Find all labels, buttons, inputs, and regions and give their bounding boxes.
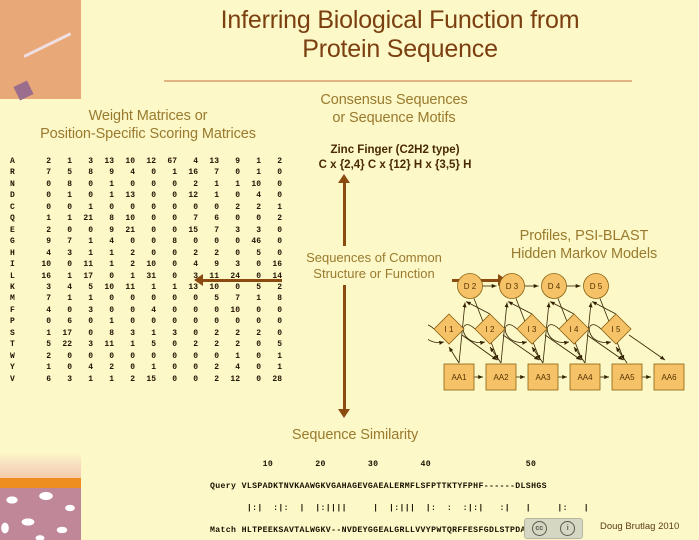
matrix-row: P060100000000 — [6, 316, 284, 327]
matrix-cell: 0 — [221, 213, 242, 224]
matrix-cell: 2 — [116, 374, 137, 385]
creative-commons-badge[interactable]: cc i — [524, 518, 583, 539]
matrix-cell: 5 — [242, 282, 263, 293]
matrix-cell: 7 — [200, 225, 221, 236]
matrix-cell: 10 — [95, 282, 116, 293]
matrix-cell: 0 — [116, 316, 137, 327]
matrix-cell: 0 — [74, 351, 95, 362]
hmm-delete-state-label: D 2 — [464, 282, 477, 291]
matrix-cell: 0 — [137, 293, 158, 304]
matrix-cell: 0 — [158, 362, 179, 373]
matrix-cell: 3 — [53, 374, 74, 385]
matrix-cell: 9 — [32, 236, 53, 247]
matrix-cell: 3 — [242, 225, 263, 236]
matrix-cell: 0 — [158, 190, 179, 201]
matrix-row: G9714008000460 — [6, 236, 284, 247]
arrow-down-head-icon — [338, 409, 350, 418]
hmm-transition-arrow — [550, 302, 574, 315]
matrix-cell: 0 — [95, 202, 116, 213]
hmm-insert-state-label: I 3 — [528, 325, 537, 334]
matrix-cell: 12 — [179, 190, 200, 201]
hmm-insert-state-label: I 2 — [486, 325, 495, 334]
matrix-cell: 1 — [242, 293, 263, 304]
matrix-cell: 0 — [221, 316, 242, 327]
matrix-cell: 4 — [179, 156, 200, 167]
matrix-cell: 1 — [53, 271, 74, 282]
matrix-cell: 7 — [32, 293, 53, 304]
matrix-cell: 8 — [53, 179, 74, 190]
matrix-cell: 1 — [158, 167, 179, 178]
matrix-cell: 4 — [74, 362, 95, 373]
matrix-row: Y104201002401 — [6, 362, 284, 373]
matrix-cell: 5 — [74, 282, 95, 293]
alignment-match-sequence: HLTPEEKSAVTALWGKV--NVDEYGGEALGRLLVVYPWTQ… — [242, 526, 547, 535]
matrix-cell: 2 — [200, 374, 221, 385]
matrix-residue-label: D — [6, 190, 32, 201]
matrix-cell: 1 — [32, 328, 53, 339]
matrix-cell: 13 — [200, 156, 221, 167]
matrix-row: F4030040001000 — [6, 305, 284, 316]
matrix-residue-label: E — [6, 225, 32, 236]
matrix-cell: 0 — [158, 248, 179, 259]
matrix-cell: 0 — [179, 328, 200, 339]
matrix-cell: 0 — [74, 328, 95, 339]
matrix-cell: 0 — [263, 190, 284, 201]
matrix-cell: 0 — [263, 248, 284, 259]
alignment-top-ruler: 10 20 30 40 50 — [210, 459, 589, 470]
matrix-cell: 0 — [137, 167, 158, 178]
matrix-cell: 67 — [158, 156, 179, 167]
matrix-cell: 0 — [221, 282, 242, 293]
matrix-cell: 1 — [32, 362, 53, 373]
matrix-row: M711000005718 — [6, 293, 284, 304]
hmm-match-state-label: AA4 — [577, 373, 593, 382]
matrix-cell: 4 — [137, 305, 158, 316]
matrix-cell: 6 — [53, 316, 74, 327]
matrix-cell: 17 — [74, 271, 95, 282]
hmm-transition-arrow — [592, 302, 616, 315]
matrix-cell: 0 — [158, 293, 179, 304]
matrix-cell: 0 — [158, 213, 179, 224]
matrix-cell: 1 — [74, 374, 95, 385]
author-credit: Doug Brutlag 2010 — [600, 521, 679, 532]
matrix-row: C001000000221 — [6, 202, 284, 213]
matrix-cell: 2 — [263, 213, 284, 224]
zinc-finger-motif: Zinc Finger (C2H2 type) C x {2,4} C x {1… — [288, 143, 502, 173]
matrix-cell: 0 — [137, 213, 158, 224]
matrix-cell: 0 — [242, 374, 263, 385]
matrix-cell: 0 — [158, 179, 179, 190]
matrix-cell: 5 — [137, 339, 158, 350]
title-line-2: Protein Sequence — [110, 35, 690, 64]
matrix-row: W200000000101 — [6, 351, 284, 362]
matrix-cell: 31 — [137, 271, 158, 282]
profiles-heading-line-1: Profiles, PSI-BLAST — [470, 228, 698, 246]
slide-canvas: Inferring Biological Function from Prote… — [0, 0, 699, 540]
matrix-cell: 7 — [200, 167, 221, 178]
matrix-cell: 0 — [179, 305, 200, 316]
matrix-residue-label: W — [6, 351, 32, 362]
matrix-row: E20092100157330 — [6, 225, 284, 236]
hmm-match-state-label: AA1 — [451, 373, 467, 382]
hmm-transition-arrow — [508, 302, 532, 315]
matrix-cell: 1 — [53, 156, 74, 167]
profiles-heading: Profiles, PSI-BLAST Hidden Markov Models — [470, 228, 698, 263]
matrix-cell: 5 — [263, 339, 284, 350]
matrix-cell: 12 — [137, 156, 158, 167]
matrix-cell: 0 — [200, 202, 221, 213]
matrix-cell: 12 — [221, 374, 242, 385]
matrix-cell: 0 — [32, 202, 53, 213]
matrix-cell: 1 — [116, 339, 137, 350]
matrix-cell: 0 — [116, 305, 137, 316]
weight-matrices-heading: Weight Matrices or Position-Specific Sco… — [18, 108, 278, 143]
matrix-cell: 1 — [137, 362, 158, 373]
matrix-cell: 0 — [242, 316, 263, 327]
matrix-cell: 1 — [158, 282, 179, 293]
matrix-cell: 0 — [242, 339, 263, 350]
matrix-cell: 2 — [95, 362, 116, 373]
matrix-cell: 0 — [137, 190, 158, 201]
matrix-cell: 10 — [32, 259, 53, 270]
hmm-transition-arrow — [466, 302, 490, 315]
matrix-cell: 0 — [158, 271, 179, 282]
matrix-cell: 1 — [74, 236, 95, 247]
matrix-cell: 0 — [158, 339, 179, 350]
matrix-cell: 0 — [221, 236, 242, 247]
matrix-cell: 2 — [221, 328, 242, 339]
matrix-cell: 1 — [137, 282, 158, 293]
matrix-residue-label: M — [6, 293, 32, 304]
matrix-cell: 3 — [53, 248, 74, 259]
page-title: Inferring Biological Function from Prote… — [110, 6, 690, 64]
matrix-cell: 3 — [158, 328, 179, 339]
matrix-row: S1170831302220 — [6, 328, 284, 339]
matrix-cell: 10 — [137, 259, 158, 270]
matrix-cell: 1 — [74, 293, 95, 304]
matrix-cell: 0 — [263, 236, 284, 247]
title-divider-rule — [164, 80, 632, 82]
matrix-cell: 0 — [74, 179, 95, 190]
matrix-cell: 8 — [74, 167, 95, 178]
matrix-cell: 2 — [221, 339, 242, 350]
brain-texture-image — [0, 488, 81, 540]
matrix-cell: 11 — [95, 339, 116, 350]
orange-divider-bar — [0, 478, 81, 488]
matrix-cell: 1 — [221, 351, 242, 362]
matrix-cell: 0 — [263, 328, 284, 339]
matrix-residue-label: I — [6, 259, 32, 270]
matrix-cell: 1 — [95, 179, 116, 190]
matrix-cell: 17 — [53, 328, 74, 339]
matrix-cell: 2 — [179, 339, 200, 350]
hmm-delete-state-label: D 3 — [506, 282, 519, 291]
matrix-row: H431120022050 — [6, 248, 284, 259]
alignment-query-label: Query — [210, 482, 236, 491]
cc-by-attribution-icon: i — [560, 521, 575, 536]
matrix-cell: 3 — [74, 305, 95, 316]
matrix-cell: 2 — [200, 248, 221, 259]
matrix-cell: 2 — [116, 259, 137, 270]
matrix-cell: 6 — [200, 213, 221, 224]
matrix-cell: 7 — [32, 167, 53, 178]
matrix-cell: 0 — [116, 362, 137, 373]
matrix-residue-label: Y — [6, 362, 32, 373]
matrix-cell: 1 — [95, 190, 116, 201]
matrix-cell: 0 — [116, 179, 137, 190]
matrix-cell: 0 — [53, 202, 74, 213]
hmm-transition-arrow — [629, 335, 665, 360]
matrix-cell: 11 — [116, 282, 137, 293]
matrix-cell: 0 — [158, 351, 179, 362]
matrix-cell: 0 — [179, 293, 200, 304]
matrix-cell: 1 — [263, 351, 284, 362]
matrix-cell: 0 — [53, 362, 74, 373]
matrix-cell: 1 — [200, 179, 221, 190]
weight-matrix-table: A21313101267413912R7589401167010N0801000… — [6, 156, 284, 385]
matrix-cell: 0 — [158, 225, 179, 236]
matrix-cell: 0 — [200, 316, 221, 327]
matrix-cell: 0 — [179, 374, 200, 385]
matrix-cell: 1 — [95, 259, 116, 270]
matrix-cell: 2 — [32, 156, 53, 167]
matrix-cell: 0 — [137, 316, 158, 327]
matrix-cell: 0 — [116, 202, 137, 213]
matrix-cell: 0 — [137, 225, 158, 236]
matrix-row: Q11218100076002 — [6, 213, 284, 224]
matrix-cell: 1 — [263, 362, 284, 373]
matrix-cell: 4 — [179, 259, 200, 270]
matrix-cell: 0 — [137, 202, 158, 213]
matrix-cell: 0 — [95, 271, 116, 282]
matrix-cell: 16 — [263, 259, 284, 270]
matrix-cell: 10 — [242, 179, 263, 190]
arrow-left-shaft — [202, 279, 282, 282]
matrix-cell: 4 — [116, 167, 137, 178]
hmm-transition-arrow — [490, 347, 501, 363]
matrix-cell: 0 — [32, 190, 53, 201]
arrow-down-shaft — [343, 285, 346, 410]
hmm-match-state-label: AA6 — [661, 373, 677, 382]
matrix-cell: 0 — [179, 351, 200, 362]
matrix-cell: 9 — [95, 225, 116, 236]
zinc-finger-title: Zinc Finger (C2H2 type) — [288, 143, 502, 158]
matrix-cell: 2 — [263, 282, 284, 293]
matrix-cell: 2 — [200, 362, 221, 373]
matrix-cell: 16 — [179, 167, 200, 178]
matrix-cell: 3 — [32, 282, 53, 293]
hmm-insert-state-label: I 5 — [612, 325, 621, 334]
arrow-up-shaft — [343, 180, 346, 246]
matrix-cell: 16 — [32, 271, 53, 282]
alignment-midline: |:| :|: | |:|||| | |:||| |: : :|:| :| | … — [210, 503, 589, 514]
matrix-cell: 1 — [242, 167, 263, 178]
matrix-cell: 0 — [95, 351, 116, 362]
matrix-cell: 2 — [200, 328, 221, 339]
matrix-residue-label: Q — [6, 213, 32, 224]
matrix-residue-label: N — [6, 179, 32, 190]
matrix-cell: 0 — [53, 225, 74, 236]
matrix-cell: 2 — [179, 248, 200, 259]
matrix-cell: 5 — [242, 248, 263, 259]
matrix-cell: 21 — [116, 225, 137, 236]
matrix-cell: 0 — [53, 305, 74, 316]
hmm-match-state-label: AA2 — [493, 373, 509, 382]
hmm-transition-arrow — [616, 347, 627, 363]
matrix-cell: 1 — [95, 316, 116, 327]
matrix-cell: 0 — [263, 167, 284, 178]
matrix-cell: 28 — [263, 374, 284, 385]
matrix-row: V631121500212028 — [6, 374, 284, 385]
matrix-cell: 13 — [116, 190, 137, 201]
matrix-cell: 1 — [95, 374, 116, 385]
hmm-insert-state-label: I 4 — [570, 325, 579, 334]
matrix-cell: 3 — [116, 328, 137, 339]
matrix-cell: 0 — [158, 316, 179, 327]
matrix-cell: 7 — [179, 213, 200, 224]
matrix-cell: 21 — [74, 213, 95, 224]
matrix-cell: 11 — [74, 259, 95, 270]
hmm-delete-state-label: D 4 — [548, 282, 561, 291]
matrix-cell: 0 — [221, 190, 242, 201]
matrix-cell: 13 — [95, 156, 116, 167]
matrix-cell: 0 — [200, 236, 221, 247]
hmm-delete-state-label: D 5 — [590, 282, 603, 291]
matrix-residue-label: K — [6, 282, 32, 293]
matrix-cell: 0 — [158, 305, 179, 316]
matrix-cell: 0 — [116, 293, 137, 304]
matrix-cell: 0 — [137, 236, 158, 247]
matrix-cell: 0 — [179, 202, 200, 213]
matrix-cell: 0 — [158, 259, 179, 270]
weight-matrices-heading-line-1: Weight Matrices or — [18, 108, 278, 126]
matrix-cell: 0 — [74, 190, 95, 201]
matrix-cell: 0 — [53, 351, 74, 362]
matrix-cell: 1 — [74, 202, 95, 213]
matrix-cell: 0 — [116, 351, 137, 362]
hmm-transition-arrow — [532, 347, 543, 363]
matrix-cell: 1 — [32, 213, 53, 224]
matrix-cell: 0 — [200, 305, 221, 316]
matrix-cell: 0 — [221, 167, 242, 178]
matrix-residue-label: A — [6, 156, 32, 167]
title-line-1: Inferring Biological Function from — [110, 6, 690, 35]
matrix-cell: 10 — [116, 213, 137, 224]
matrix-residue-label: H — [6, 248, 32, 259]
matrix-cell: 10 — [116, 156, 137, 167]
hmm-transition-arrow — [449, 347, 459, 363]
hidden-markov-model-diagram: D 2D 3D 4D 5I 1I 2I 3I 4I 5AA1AA2AA3AA4A… — [428, 272, 699, 402]
matrix-cell: 0 — [179, 362, 200, 373]
alignment-match-label: Match — [210, 526, 236, 535]
matrix-cell: 0 — [32, 179, 53, 190]
profiles-heading-line-2: Hidden Markov Models — [470, 246, 698, 264]
matrix-cell: 0 — [158, 202, 179, 213]
matrix-cell: 4 — [32, 305, 53, 316]
matrix-cell: 0 — [200, 351, 221, 362]
matrix-cell: 2 — [242, 328, 263, 339]
matrix-residue-label: R — [6, 167, 32, 178]
matrix-cell: 4 — [32, 248, 53, 259]
matrix-cell: 1 — [221, 179, 242, 190]
consensus-heading-line-2: or Sequence Motifs — [288, 110, 500, 128]
matrix-cell: 6 — [32, 374, 53, 385]
matrix-row: T52231115022205 — [6, 339, 284, 350]
matrix-cell: 8 — [263, 293, 284, 304]
matrix-cell: 15 — [179, 225, 200, 236]
matrix-cell: 1 — [74, 248, 95, 259]
matrix-cell: 7 — [53, 236, 74, 247]
consensus-sequences-heading: Consensus Sequences or Sequence Motifs — [288, 92, 500, 127]
matrix-residue-label: V — [6, 374, 32, 385]
matrix-row: K3451011111310052 — [6, 282, 284, 293]
matrix-cell: 0 — [242, 259, 263, 270]
matrix-cell: 5 — [32, 339, 53, 350]
matrix-cell: 8 — [158, 236, 179, 247]
matrix-cell: 0 — [32, 316, 53, 327]
matrix-cell: 2 — [221, 202, 242, 213]
matrix-cell: 15 — [137, 374, 158, 385]
matrix-cell: 4 — [53, 282, 74, 293]
matrix-cell: 1 — [95, 248, 116, 259]
matrix-cell: 5 — [53, 167, 74, 178]
matrix-cell: 5 — [200, 293, 221, 304]
matrix-cell: 46 — [242, 236, 263, 247]
matrix-cell: 0 — [179, 236, 200, 247]
matrix-row: D01011300121040 — [6, 190, 284, 201]
matrix-cell: 0 — [53, 259, 74, 270]
matrix-cell: 8 — [95, 213, 116, 224]
matrix-cell: 0 — [74, 316, 95, 327]
matrix-row: N0801000211100 — [6, 179, 284, 190]
matrix-cell: 0 — [137, 179, 158, 190]
matrix-cell: 3 — [74, 339, 95, 350]
matrix-cell: 1 — [116, 271, 137, 282]
matrix-cell: 0 — [179, 316, 200, 327]
matrix-cell: 4 — [242, 190, 263, 201]
matrix-cell: 0 — [242, 362, 263, 373]
matrix-cell: 2 — [179, 179, 200, 190]
hmm-svg: D 2D 3D 4D 5I 1I 2I 3I 4I 5AA1AA2AA3AA4A… — [428, 272, 699, 402]
matrix-cell: 10 — [221, 305, 242, 316]
matrix-cell: 0 — [221, 248, 242, 259]
center-hub-line-1: Sequences of Common — [288, 250, 460, 266]
matrix-cell: 2 — [32, 225, 53, 236]
matrix-cell: 0 — [242, 213, 263, 224]
matrix-cell: 1 — [263, 202, 284, 213]
matrix-cell: 0 — [242, 351, 263, 362]
matrix-cell: 1 — [53, 293, 74, 304]
matrix-cell: 2 — [32, 351, 53, 362]
matrix-cell: 0 — [116, 236, 137, 247]
hmm-insert-state-label: I 1 — [445, 325, 454, 334]
matrix-cell: 1 — [242, 156, 263, 167]
consensus-heading-line-1: Consensus Sequences — [288, 92, 500, 110]
matrix-cell: 2 — [116, 248, 137, 259]
matrix-residue-label: F — [6, 305, 32, 316]
matrix-residue-label: T — [6, 339, 32, 350]
matrix-cell: 0 — [263, 305, 284, 316]
matrix-cell: 10 — [200, 282, 221, 293]
matrix-cell: 1 — [200, 190, 221, 201]
weight-matrices-heading-line-2: Position-Specific Scoring Matrices — [18, 126, 278, 144]
matrix-cell: 22 — [53, 339, 74, 350]
matrix-cell: 0 — [74, 225, 95, 236]
matrix-residue-label: C — [6, 202, 32, 213]
matrix-cell: 7 — [221, 293, 242, 304]
hmm-transition-arrow — [574, 347, 585, 363]
matrix-cell: 2 — [200, 339, 221, 350]
